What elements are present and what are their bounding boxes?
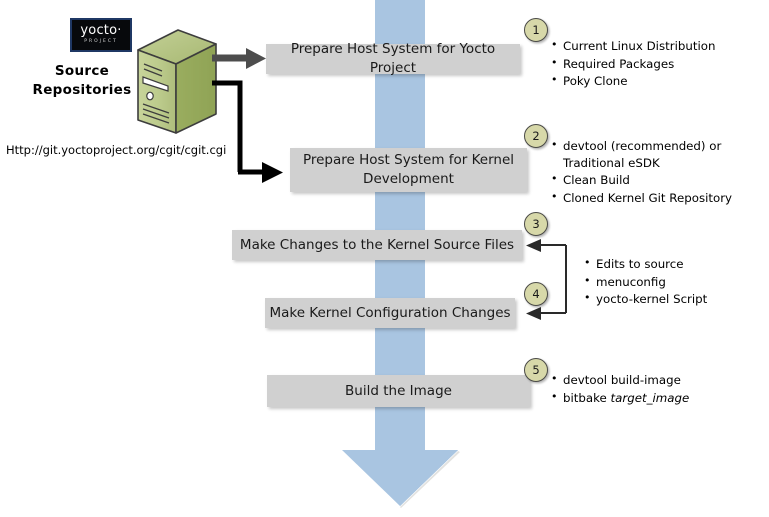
source-label-line-1: Source: [22, 62, 142, 81]
logo-wordmark-text: yocto: [80, 23, 117, 38]
step3-step4-shared-notes: Edits to source menuconfig yocto-kernel …: [584, 256, 764, 309]
list-item: menuconfig: [584, 274, 764, 291]
step-number-2: 2: [524, 124, 548, 148]
step5-note-list: devtool build-image bitbake target_image: [551, 372, 766, 406]
arrow-notes-to-step3-step4: [526, 239, 566, 320]
source-repositories-label: Source Repositories: [22, 62, 142, 100]
shared-note-list: Edits to source menuconfig yocto-kernel …: [584, 256, 764, 308]
logo-subtext: PROJECT: [84, 38, 117, 45]
yocto-project-logo: yocto· PROJECT: [70, 18, 132, 52]
step-number-5: 5: [524, 358, 548, 382]
logo-dot: ·: [117, 23, 121, 38]
step1-note-list: Current Linux Distribution Required Pack…: [551, 38, 766, 90]
list-item: bitbake target_image: [551, 390, 766, 407]
list-item: Current Linux Distribution: [551, 38, 766, 55]
source-repository-url: Http://git.yoctoproject.org/cgit/cgit.cg…: [6, 143, 226, 157]
step2-note-list: devtool (recommended) or Traditional eSD…: [551, 138, 766, 206]
server-tower-icon: [128, 28, 220, 138]
step-box-build-image[interactable]: Build the Image: [267, 375, 530, 407]
logo-wordmark: yocto·: [80, 25, 121, 37]
step-number-1: 1: [524, 18, 548, 42]
list-item: Edits to source: [584, 256, 764, 273]
diagram-canvas: yocto· PROJECT Source Repositories Http:…: [0, 0, 769, 517]
list-item: Required Packages: [551, 56, 766, 73]
step-number-4: 4: [524, 282, 548, 306]
arrow-server-to-step1: [212, 48, 266, 69]
flow-down-arrow-icon: [340, 428, 460, 508]
step-box-make-source-changes[interactable]: Make Changes to the Kernel Source Files: [232, 230, 522, 260]
step-number-3: 3: [524, 212, 548, 236]
step-box-prepare-host-kernel[interactable]: Prepare Host System for Kernel Developme…: [290, 148, 527, 192]
list-item: devtool build-image: [551, 372, 766, 389]
bitbake-command: bitbake: [563, 391, 611, 405]
step1-notes: Current Linux Distribution Required Pack…: [551, 38, 766, 91]
list-item: devtool (recommended) or Traditional eSD…: [551, 138, 766, 171]
step-box-make-config-changes[interactable]: Make Kernel Configuration Changes: [265, 298, 515, 328]
list-item: Clean Build: [551, 172, 766, 189]
step-box-prepare-host-yocto[interactable]: Prepare Host System for Yocto Project: [266, 44, 520, 74]
arrow-server-to-step2: [212, 83, 283, 183]
list-item: yocto-kernel Script: [584, 291, 764, 308]
bitbake-target-arg: target_image: [611, 391, 690, 405]
list-item: Cloned Kernel Git Repository: [551, 190, 766, 207]
step2-notes: devtool (recommended) or Traditional eSD…: [551, 138, 766, 207]
list-item: Poky Clone: [551, 73, 766, 90]
step5-notes: devtool build-image bitbake target_image: [551, 372, 766, 407]
source-label-line-2: Repositories: [22, 81, 142, 100]
